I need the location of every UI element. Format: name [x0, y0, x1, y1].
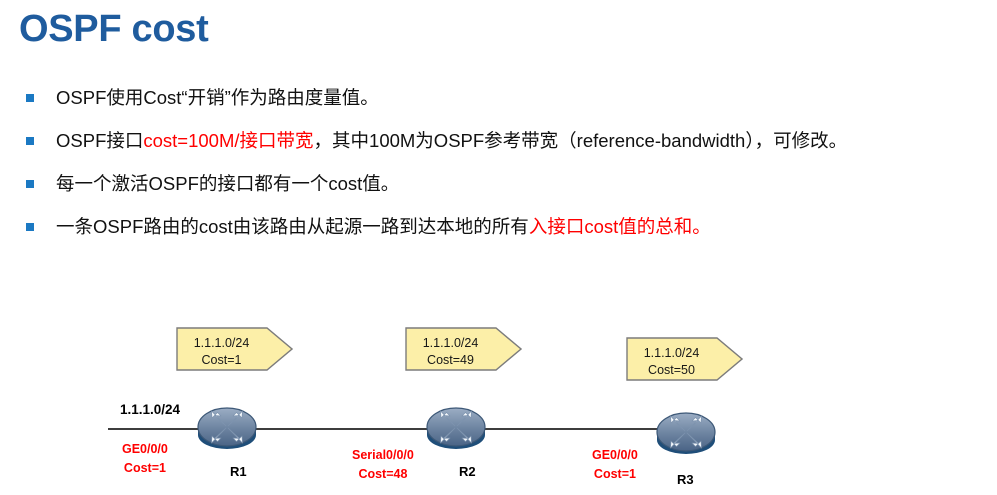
cost-callout: 1.1.1.0/24Cost=50 — [626, 337, 743, 381]
slide-canvas: OSPF cost OSPF使用Cost“开销”作为路由度量值。OSPF接口co… — [0, 0, 997, 495]
bullet-square-icon — [26, 94, 34, 102]
router-label: R1 — [230, 464, 247, 479]
callout-cost: Cost=1 — [176, 352, 267, 369]
interface-label: Serial0/0/0Cost=48 — [352, 446, 414, 484]
bullet-text: 一条OSPF路由的cost由该路由从起源一路到达本地的所有入接口cost值的总和… — [56, 215, 711, 239]
interface-label: GE0/0/0Cost=1 — [122, 440, 168, 478]
interface-label: GE0/0/0Cost=1 — [592, 446, 638, 484]
callout-cost: Cost=50 — [626, 362, 717, 379]
bullet-plain-text: 一条OSPF路由的cost由该路由从起源一路到达本地的所有 — [56, 216, 529, 237]
router-icon-shape — [655, 410, 717, 460]
bullet-item: 一条OSPF路由的cost由该路由从起源一路到达本地的所有入接口cost值的总和… — [24, 205, 994, 248]
network-diagram: 1.1.1.0/24 1.1.1.0/24Cost=11.1.1.0/24Cos… — [0, 300, 997, 495]
network-link-middle — [228, 428, 458, 430]
callout-cost: Cost=49 — [405, 352, 496, 369]
bullet-plain-text: OSPF使用Cost“开销”作为路由度量值。 — [56, 87, 379, 108]
router-label: R2 — [459, 464, 476, 479]
bullet-highlight-text: cost=100M/接口带宽 — [143, 130, 313, 151]
bullet-highlight-text: 入接口cost值的总和。 — [529, 216, 711, 237]
interface-port: GE0/0/0 — [122, 440, 168, 459]
interface-cost: Cost=1 — [122, 459, 168, 478]
callout-prefix: 1.1.1.0/24 — [405, 335, 496, 352]
interface-port: GE0/0/0 — [592, 446, 638, 465]
interface-cost: Cost=1 — [592, 465, 638, 484]
bullet-plain-text: OSPF接口 — [56, 130, 143, 151]
bullet-plain-text: ，其中100M为OSPF参考带宽（reference-bandwidth），可修… — [314, 130, 848, 151]
bullet-text: OSPF接口cost=100M/接口带宽，其中100M为OSPF参考带宽（ref… — [56, 129, 847, 153]
bullet-text: OSPF使用Cost“开销”作为路由度量值。 — [56, 86, 379, 110]
router-icon-shape — [425, 405, 487, 455]
bullet-item: OSPF接口cost=100M/接口带宽，其中100M为OSPF参考带宽（ref… — [24, 119, 994, 162]
interface-port: Serial0/0/0 — [352, 446, 414, 465]
interface-cost: Cost=48 — [352, 465, 414, 484]
network-link-right — [458, 428, 680, 430]
router-icon — [655, 410, 717, 460]
router-icon — [196, 405, 258, 455]
bullet-square-icon — [26, 137, 34, 145]
router-icon — [425, 405, 487, 455]
bullet-item: OSPF使用Cost“开销”作为路由度量值。 — [24, 76, 994, 119]
bullet-list: OSPF使用Cost“开销”作为路由度量值。OSPF接口cost=100M/接口… — [24, 76, 994, 248]
bullet-item: 每一个激活OSPF的接口都有一个cost值。 — [24, 162, 994, 205]
cost-callout: 1.1.1.0/24Cost=1 — [176, 327, 293, 371]
bullet-square-icon — [26, 223, 34, 231]
cost-callout: 1.1.1.0/24Cost=49 — [405, 327, 522, 371]
bullet-square-icon — [26, 180, 34, 188]
router-label: R3 — [677, 472, 694, 487]
router-icon-shape — [196, 405, 258, 455]
callout-prefix: 1.1.1.0/24 — [626, 345, 717, 362]
page-title: OSPF cost — [19, 6, 208, 52]
network-prefix-label: 1.1.1.0/24 — [120, 402, 180, 417]
callout-prefix: 1.1.1.0/24 — [176, 335, 267, 352]
bullet-plain-text: 每一个激活OSPF的接口都有一个cost值。 — [56, 173, 399, 194]
bullet-text: 每一个激活OSPF的接口都有一个cost值。 — [56, 172, 399, 196]
